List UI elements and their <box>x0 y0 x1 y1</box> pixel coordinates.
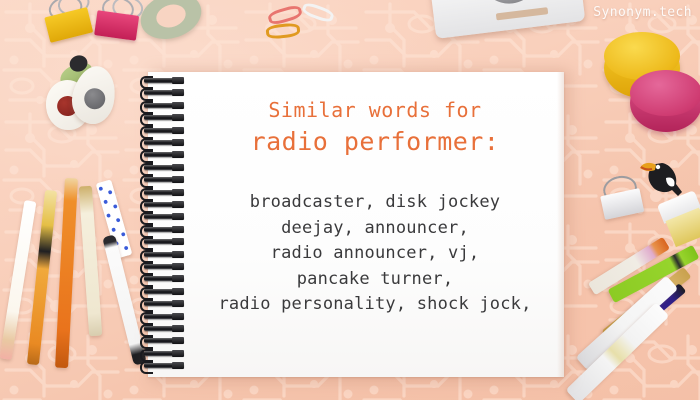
spiral-ring-hook <box>140 138 153 151</box>
spiral-ring <box>144 190 184 195</box>
spiral-ring-hook <box>140 200 153 213</box>
spiral-ring-hook <box>140 150 153 163</box>
spiral-ring-hook <box>140 101 153 114</box>
spiral-ring-hook <box>140 361 153 374</box>
spiral-ring-cap <box>172 362 184 369</box>
spiral-ring-hook <box>140 237 153 250</box>
synonym-line: radio announcer, vj, <box>186 241 564 267</box>
spiral-ring-cap <box>172 350 184 357</box>
spiral-ring-hook <box>140 175 153 188</box>
spiral-ring <box>144 115 184 120</box>
spiral-ring-hook <box>140 88 153 101</box>
spiral-ring-cap <box>172 337 184 344</box>
spiral-ring <box>144 103 184 108</box>
spiral-ring <box>144 326 184 331</box>
spiral-ring-cap <box>172 114 184 121</box>
spiral-ring <box>144 252 184 257</box>
spiral-ring-cap <box>172 226 184 233</box>
spiral-ring-hook <box>140 349 153 362</box>
spiral-ring <box>144 363 184 368</box>
spiral-ring <box>144 239 184 244</box>
desk-scene: Similar words for radio performer: broad… <box>0 0 700 400</box>
spiral-ring-hook <box>140 312 153 325</box>
notepad: Similar words for radio performer: broad… <box>148 72 564 377</box>
spiral-ring-hook <box>140 299 153 312</box>
page-content: Similar words for radio performer: broad… <box>186 72 564 377</box>
spiral-ring-hook <box>140 274 153 287</box>
spiral-ring-cap <box>172 102 184 109</box>
spiral-ring-hook <box>140 188 153 201</box>
spiral-ring <box>144 314 184 319</box>
spiral-ring <box>144 202 184 207</box>
spiral-ring <box>144 227 184 232</box>
spiral-ring-cap <box>172 201 184 208</box>
macaron-pink-top <box>630 70 700 116</box>
spiral-ring <box>144 165 184 170</box>
spiral-ring <box>144 152 184 157</box>
spiral-ring <box>144 289 184 294</box>
spiral-ring-cap <box>172 77 184 84</box>
spiral-ring <box>144 264 184 269</box>
spiral-ring-hook <box>140 287 153 300</box>
spiral-ring-hook <box>140 76 153 89</box>
synonym-line: radio personality, shock jock, <box>186 292 564 318</box>
spiral-ring <box>144 78 184 83</box>
binder-clip-pink <box>94 3 140 43</box>
synonym-list: broadcaster, disk jockey deejay, announc… <box>186 190 564 318</box>
spiral-ring-cap <box>172 238 184 245</box>
spiral-ring <box>144 338 184 343</box>
spiral-ring-cap <box>172 313 184 320</box>
spiral-ring-hook <box>140 336 153 349</box>
spiral-ring <box>144 276 184 281</box>
spiral-ring-cap <box>172 288 184 295</box>
spiral-ring-cap <box>172 176 184 183</box>
notepad-page: Similar words for radio performer: broad… <box>148 72 564 377</box>
spiral-ring-hook <box>140 163 153 176</box>
spiral-ring-hook <box>140 126 153 139</box>
spiral-ring-cap <box>172 151 184 158</box>
page-title-line1: Similar words for <box>186 98 564 122</box>
spiral-ring-cap <box>172 263 184 270</box>
page-title-line2: radio performer: <box>186 127 564 156</box>
binder-clip-pink-body <box>94 10 139 41</box>
spiral-ring-cap <box>172 300 184 307</box>
spiral-ring-cap <box>172 139 184 146</box>
watermark: Synonym.tech <box>593 5 692 20</box>
spiral-ring-hook <box>140 262 153 275</box>
spiral-ring-hook <box>140 113 153 126</box>
spiral-ring-hook <box>140 225 153 238</box>
synonym-line: deejay, announcer, <box>186 216 564 242</box>
spiral-ring-hook <box>140 250 153 263</box>
toucan-sticker <box>638 152 690 200</box>
spiral-ring <box>144 128 184 133</box>
spiral-binding <box>142 72 188 377</box>
spiral-ring-hook <box>140 324 153 337</box>
spiral-ring <box>144 140 184 145</box>
spiral-ring-cap <box>172 325 184 332</box>
spiral-ring-hook <box>140 212 153 225</box>
spiral-ring-cap <box>172 275 184 282</box>
synonym-line: pancake turner, <box>186 267 564 293</box>
spiral-ring <box>144 351 184 356</box>
spiral-ring-cap <box>172 164 184 171</box>
spiral-ring-cap <box>172 213 184 220</box>
spiral-ring-cap <box>172 127 184 134</box>
spiral-ring-cap <box>172 251 184 258</box>
spiral-ring <box>144 214 184 219</box>
spiral-ring-cap <box>172 189 184 196</box>
synonym-line: broadcaster, disk jockey <box>186 190 564 216</box>
spiral-ring-cap <box>172 89 184 96</box>
spiral-ring <box>144 177 184 182</box>
spiral-ring <box>144 90 184 95</box>
spiral-ring <box>144 301 184 306</box>
